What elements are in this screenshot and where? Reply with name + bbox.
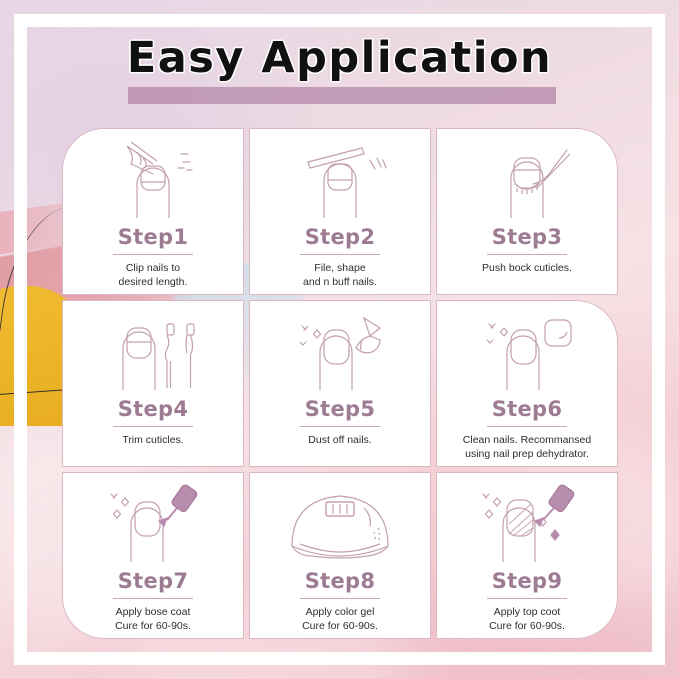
cuticle-pusher-icon xyxy=(437,139,617,225)
dust-brush-icon xyxy=(250,311,430,397)
uv-lamp-icon xyxy=(250,483,430,569)
step-description: Dust off nails. xyxy=(300,433,379,447)
page-title: Easy Application xyxy=(0,33,679,83)
step-label: Step1 xyxy=(118,227,189,248)
step-label: Step9 xyxy=(492,571,563,592)
step-description: File, shape and n buff nails. xyxy=(295,261,385,290)
step-divider xyxy=(113,254,193,255)
title-block: Easy Application xyxy=(0,33,679,95)
step-card-1[interactable]: Step1 Clip nails to desired length. xyxy=(62,128,244,295)
nail-clipper-icon xyxy=(63,139,243,225)
steps-grid: Step1 Clip nails to desired length. Step… xyxy=(62,128,618,639)
step-description: Apply color gel Cure for 60-90s. xyxy=(294,605,386,634)
title-underline-bar xyxy=(128,87,556,104)
step-card-8[interactable]: Step8 Apply color gel Cure for 60-90s. xyxy=(249,472,431,639)
step-divider xyxy=(113,598,193,599)
step-card-7[interactable]: Step7 Apply bose coat Cure for 60-90s. xyxy=(62,472,244,639)
step-card-2[interactable]: Step2 File, shape and n buff nails. xyxy=(249,128,431,295)
step-divider xyxy=(487,254,567,255)
step-description: Clean nails. Recommansed using nail prep… xyxy=(455,433,599,462)
application-poster: Easy Application Step1 Clip nails to des… xyxy=(0,0,679,679)
top-coat-brush-icon xyxy=(437,483,617,569)
step-divider xyxy=(300,598,380,599)
step-description: Apply top coot Cure for 60-90s. xyxy=(481,605,573,634)
step-description: Push bock cuticles. xyxy=(474,261,580,275)
cuticle-trimmer-icon xyxy=(63,311,243,397)
step-description: Apply bose coat Cure for 60-90s. xyxy=(107,605,199,634)
step-card-6[interactable]: Step6 Clean nails. Recommansed using nai… xyxy=(436,300,618,467)
step-label: Step7 xyxy=(118,571,189,592)
nail-file-icon xyxy=(250,139,430,225)
cleaning-wipe-icon xyxy=(437,311,617,397)
step-card-4[interactable]: Step4 Trim cuticles. xyxy=(62,300,244,467)
step-label: Step5 xyxy=(305,399,376,420)
step-divider xyxy=(487,426,567,427)
step-label: Step3 xyxy=(492,227,563,248)
step-divider xyxy=(113,426,193,427)
base-coat-brush-icon xyxy=(63,483,243,569)
step-divider xyxy=(300,254,380,255)
step-label: Step8 xyxy=(305,571,376,592)
step-description: Trim cuticles. xyxy=(114,433,191,447)
step-card-9[interactable]: Step9 Apply top coot Cure for 60-90s. xyxy=(436,472,618,639)
step-card-3[interactable]: Step3 Push bock cuticles. xyxy=(436,128,618,295)
step-label: Step6 xyxy=(492,399,563,420)
step-label: Step2 xyxy=(305,227,376,248)
step-divider xyxy=(487,598,567,599)
step-card-5[interactable]: Step5 Dust off nails. xyxy=(249,300,431,467)
step-description: Clip nails to desired length. xyxy=(111,261,196,290)
step-divider xyxy=(300,426,380,427)
step-label: Step4 xyxy=(118,399,189,420)
